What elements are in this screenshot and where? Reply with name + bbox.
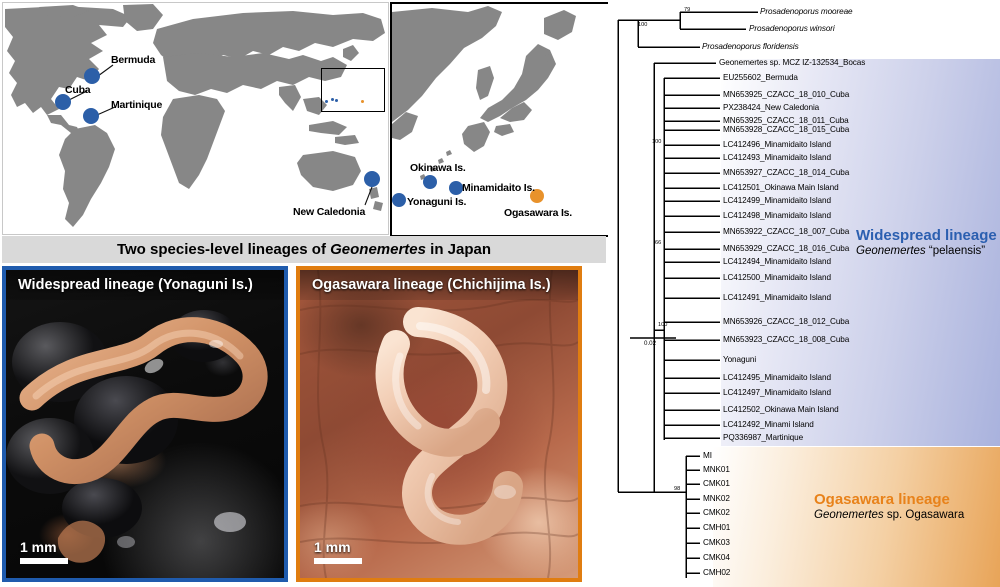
map-label-bermuda: Bermuda [111, 54, 155, 66]
map-label-yonaguni: Yonaguni Is. [407, 196, 466, 208]
tree-tip-label: LC412494_Minamidaito Island [723, 258, 831, 266]
tree-tip-label: LC412492_Minami Island [723, 421, 814, 429]
scalebar-widespread-line [20, 558, 68, 564]
clade-label-widespread-genus: Geonemertes [856, 245, 926, 257]
bootstrap-value: 66 [655, 240, 661, 246]
clade-label-widespread-subtitle: Geonemertes “pelaensis” [856, 245, 997, 259]
figure-caption-bar: Two species-level lineages of Geonemerte… [2, 236, 606, 263]
tree-tip-label: Prosadenoporus floridensis [702, 43, 799, 51]
clade-label-widespread: Widespread lineage Geonemertes “pelaensi… [856, 228, 997, 259]
map-dot-inset-minamidaito [331, 98, 334, 101]
photo-ogasawara-title: Ogasawara lineage (Chichijima Is.) [300, 270, 578, 300]
clade-label-ogasawara-title: Ogasawara lineage [814, 492, 964, 509]
tree-tip-label: MN653929_CZACC_18_016_Cuba [723, 245, 849, 253]
scalebar-ogasawara-label: 1 mm [314, 540, 362, 554]
map-dot-inset-okinawa [325, 100, 328, 103]
tree-scale-bar-label: 0.02 [644, 340, 656, 347]
tree-tip-label: MNK01 [703, 466, 730, 474]
japan-inset-map-panel: Okinawa Is. Minamidaito Is. Yonaguni Is.… [390, 2, 610, 237]
tree-tip-label: Yonaguni [723, 356, 756, 364]
bootstrap-value: 100 [638, 22, 647, 28]
map-dot-japan-minamidaito[interactable] [449, 181, 463, 195]
map-dot-inset-ogasawara [361, 100, 364, 103]
tree-tip-label: LC412502_Okinawa Main Island [723, 406, 839, 414]
scalebar-widespread: 1 mm [20, 540, 68, 564]
japan-inset-indicator-box [321, 68, 385, 112]
map-label-minamidaito: Minamidaito Is. [462, 182, 535, 194]
photo-ogasawara-image [300, 270, 578, 578]
caption-text: Two species-level lineages of Geonemerte… [117, 241, 491, 258]
tree-tip-label: CMH01 [703, 524, 730, 532]
scalebar-ogasawara: 1 mm [314, 540, 362, 564]
map-dot-martinique[interactable] [83, 108, 99, 124]
tree-tip-label: CMK01 [703, 480, 730, 488]
world-map-panel: Bermuda Cuba Martinique New Caledonia [2, 2, 389, 235]
tree-tip-label: MN653922_CZACC_18_007_Cuba [723, 228, 849, 236]
figure-root: Bermuda Cuba Martinique New Caledonia [0, 0, 1000, 587]
map-label-okinawa: Okinawa Is. [410, 162, 466, 174]
bootstrap-value: 100 [658, 322, 667, 328]
tree-tip-label: Prosadenoporus winsori [749, 25, 835, 33]
map-dot-bermuda[interactable] [84, 68, 100, 84]
map-dot-japan-yonaguni[interactable] [392, 193, 406, 207]
map-label-martinique: Martinique [111, 99, 162, 111]
clade-label-widespread-epithet: “pelaensis” [926, 245, 985, 257]
tree-tip-label: MN653928_CZACC_18_015_Cuba [723, 126, 849, 134]
caption-prefix: Two species-level lineages of [117, 241, 330, 258]
map-label-cuba: Cuba [65, 84, 90, 96]
scalebar-ogasawara-line [314, 558, 362, 564]
photo-panel-widespread[interactable]: Widespread lineage (Yonaguni Is.) 1 mm [2, 266, 288, 582]
bootstrap-value: 79 [684, 7, 690, 13]
tree-tip-label: MNK02 [703, 495, 730, 503]
tree-tip-label: PQ336987_Martinique [723, 434, 803, 442]
tree-tip-label: MN653925_CZACC_18_010_Cuba [723, 91, 849, 99]
tree-tip-label: Geonemertes sp. MCZ IZ-132534_Bocas [719, 59, 865, 67]
bootstrap-value: 98 [674, 486, 680, 492]
tree-tip-label: MN653925_CZACC_18_011_Cuba [723, 117, 849, 125]
photo-ogasawara-worm [300, 270, 578, 578]
map-label-new-caledonia: New Caledonia [293, 206, 365, 218]
clade-label-ogasawara-subtitle: Geonemertes sp. Ogasawara [814, 509, 964, 523]
photo-widespread-worm [6, 270, 284, 578]
tree-tip-label: EU255602_Bermuda [723, 74, 798, 82]
tree-tip-label: CMK02 [703, 509, 730, 517]
map-dot-cuba[interactable] [55, 94, 71, 110]
map-dot-inset-yonaguni [335, 99, 338, 102]
photo-widespread-title: Widespread lineage (Yonaguni Is.) [6, 270, 284, 300]
caption-genus: Geonemertes [330, 241, 426, 258]
clade-label-ogasawara-epithet: sp. Ogasawara [884, 509, 965, 521]
tree-tip-label: LC412496_Minamidaito Island [723, 141, 831, 149]
bootstrap-value: 100 [652, 139, 661, 145]
tree-tip-label: MN653926_CZACC_18_012_Cuba [723, 318, 849, 326]
tree-tip-label: LC412499_Minamidaito Island [723, 197, 831, 205]
clade-label-widespread-title: Widespread lineage [856, 228, 997, 245]
tree-tip-label: Prosadenoporus mooreae [760, 8, 852, 16]
caption-suffix: in Japan [426, 241, 491, 258]
tree-tip-label: CMH02 [703, 569, 730, 577]
tree-tip-label: MN653923_CZACC_18_008_Cuba [723, 336, 849, 344]
photo-widespread-image [6, 270, 284, 578]
map-dot-japan-okinawa[interactable] [423, 175, 437, 189]
tree-tip-label: PX238424_New Caledonia [723, 104, 819, 112]
map-dot-new-caledonia[interactable] [364, 171, 380, 187]
tree-tip-label: LC412493_Minamidaito Island [723, 154, 831, 162]
clade-label-ogasawara: Ogasawara lineage Geonemertes sp. Ogasaw… [814, 492, 964, 523]
tree-tip-label: MN653927_CZACC_18_014_Cuba [723, 169, 849, 177]
tree-tip-label: LC412501_Okinawa Main Island [723, 184, 839, 192]
left-column: Bermuda Cuba Martinique New Caledonia [0, 0, 608, 587]
tree-tip-label: CMK03 [703, 539, 730, 547]
map-label-ogasawara: Ogasawara Is. [504, 207, 572, 219]
phylogenetic-tree-panel: 0.02 79 100 100 66 100 98 Prosadenoporus… [608, 0, 1000, 587]
scalebar-widespread-label: 1 mm [20, 540, 68, 554]
tree-tip-label: LC412497_Minamidaito Island [723, 389, 831, 397]
tree-tip-label: LC412500_Minamidaito Island [723, 274, 831, 282]
tree-tip-label: CMK04 [703, 554, 730, 562]
photo-panel-ogasawara[interactable]: Ogasawara lineage (Chichijima Is.) 1 mm [296, 266, 582, 582]
clade-label-ogasawara-genus: Geonemertes [814, 509, 884, 521]
tree-tip-label: MI [703, 452, 712, 460]
tree-tip-label: LC412498_Minamidaito Island [723, 212, 831, 220]
tree-tip-label: LC412491_Minamidaito Island [723, 294, 831, 302]
world-map-graphic [3, 3, 388, 234]
tree-tip-label: LC412495_Minamidaito Island [723, 374, 831, 382]
